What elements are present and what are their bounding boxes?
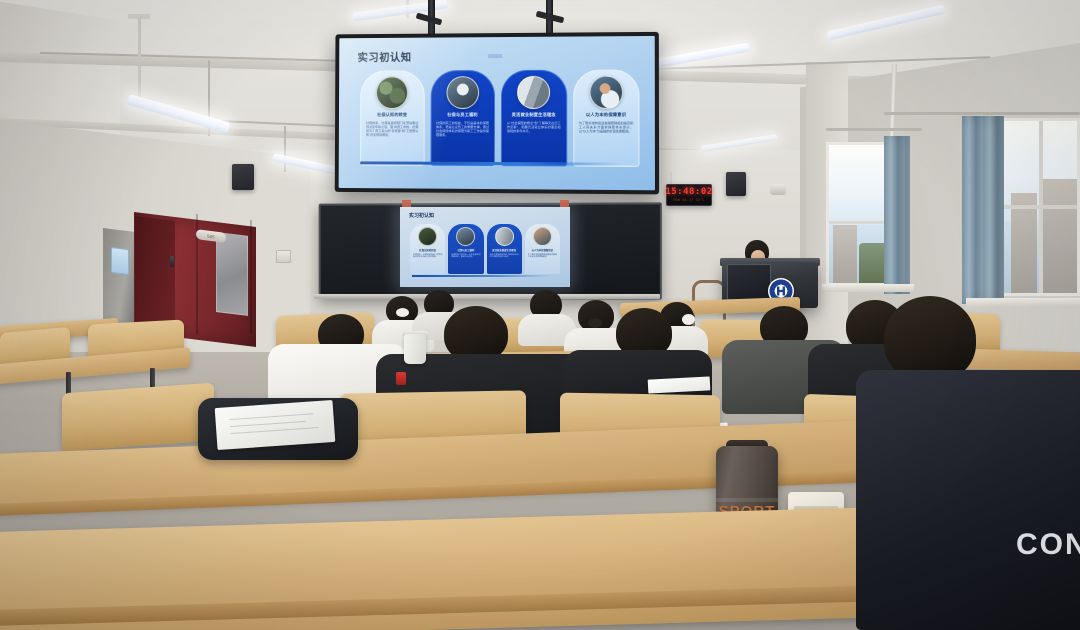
classroom-photo-scene: 实习初认知 社保认知的转变 社保体系、社保是政府部门在劳动者达到法定年龄之后，面… [0,0,1080,630]
door-handle[interactable] [170,256,174,267]
shirt-logo-text: CON [1016,528,1080,562]
curtain-rod-far [884,112,1080,115]
window-middle [826,142,888,286]
slide-card-3: 灵活就业制度生活理念 从"社会保障的概念"到"了解每天在日工作定额"，把握灵活就… [501,70,567,167]
student-back-1-hairtie [396,308,409,317]
slide-card-1-photo [376,76,408,109]
bottle-band [716,498,778,502]
doorway-opening [103,228,137,330]
led-display[interactable]: 实习初认知 社保认知的转变 社保体系、社保是政府部门在劳动者达到法定年龄之后，面… [335,32,659,195]
chalk-tray [314,294,660,299]
projected-card-3-heading: 灵活就业制度生活理念 [492,248,516,252]
projected-card-2-heading: 社保与员工福利 [458,248,475,252]
projected-card-1-body: 社保体系、社保是政府部门在劳动者达到法定年龄之后的保障。 [410,254,445,259]
clock-sublabel: MON 06-17 26°C [673,198,704,202]
projected-card-3-photo [495,227,514,246]
slide-card-1-heading: 社保认知的转变 [377,113,407,118]
projected-card-1-photo [418,227,437,246]
clock-time: 15:48:02 [665,188,712,197]
white-notebook [215,400,336,450]
projected-card-4-body: 为了更好地构建保障措施和提高职工人际关系的保障意识。 [525,254,560,259]
projected-accent-bar [412,275,552,277]
slide-card-1: 社保认知的转变 社保体系、社保是政府部门在劳动者达到法定年龄之后，面 向员工中的… [360,70,424,165]
ceiling-conduit-4 [284,126,286,172]
projected-slide-title: 实习初认知 [409,212,434,219]
projected-slide: 实习初认知 社保认知的转变 社保体系、社保是政府部门在劳动者达到法定年龄之后的保… [400,207,570,287]
notebook-line-2 [230,421,306,427]
projected-card-4-photo [533,227,552,246]
window-sky-mid [829,145,885,225]
window-sill-right [966,298,1080,308]
slide-card-2-heading: 社保与员工福利 [447,113,477,118]
window-mullion-h2 [829,221,885,224]
paper-cup [404,334,426,364]
projected-card-2-body: 社保的职工的权益，不仅是基本的保障体系，更是企业支撑。 [448,254,483,259]
slide-card-4-heading: 以人为本的保障意识 [586,113,626,118]
door-open-leaf[interactable] [135,216,175,327]
slide-card-2-body: 社保的职工的权益，不仅是基本的保障体系，更是企业员工的重要支撑。通过社会保险体系… [431,121,494,138]
light-switch[interactable] [276,250,291,263]
slide-title: 实习初认知 [358,50,412,65]
projected-card-4: 以人为本的保障意识 为了更好地构建保障措施和提高职工人际关系的保障意识。 [525,224,560,274]
notebook-line-3 [230,427,318,434]
projected-card-4-heading: 以人为本的保障意识 [532,248,554,252]
window-building-2 [1043,179,1077,296]
slide-card-2-photo [446,76,479,109]
window-sill-middle [822,284,914,292]
door-window [216,232,248,316]
projected-card-row: 社保认知的转变 社保体系、社保是政府部门在劳动者达到法定年龄之后的保障。 社保与… [410,224,560,274]
led-clock: 15:48:02 MON 06-17 26°C [666,184,712,206]
curtain-right [962,116,1004,304]
projected-card-1-heading: 社保认知的转变 [419,248,436,252]
slide-card-2: 社保与员工福利 社保的职工的权益，不仅是基本的保障体系，更是企业员工的重要支撑。… [430,70,495,166]
projected-card-3: 灵活就业制度生活理念 从社会保障的概念到了解每天在日工作定额的理念与条件。 [487,224,522,274]
slide-card-row: 社保认知的转变 社保体系、社保是政府部门在劳动者达到法定年龄之后，面 向员工中的… [360,69,639,166]
slide-card-3-body: 从"社会保障的概念"到"了解每天在日工作定额"，把握灵活就业体系的理念和保险的条… [502,121,566,134]
wall-notice-placard [111,247,129,275]
projected-card-2-photo [456,227,475,246]
motion-sensor [770,184,786,195]
slide-card-4-photo [589,76,623,109]
slide-card-3-heading: 灵活就业制度生活理念 [512,113,556,118]
slide-card-4: 以人为本的保障意识 为了更好地构建这些保障措施和提高职工人际关系方面的保障体系意… [573,69,640,166]
light-stem-1 [138,18,141,104]
projected-card-1: 社保认知的转变 社保体系、社保是政府部门在劳动者达到法定年龄之后的保障。 [410,224,445,274]
door-panel-seam-2 [250,220,252,334]
slide-card-4-body: 为了更好地构建这些保障措施和提高职工人际关系方面的保障体系意识，以"以人为本"为… [574,121,639,134]
window-mullion-v [1039,121,1043,293]
ceiling-speaker-right [726,172,746,196]
room-number-text: 505 [207,233,215,239]
curtain-rod-mid [826,128,922,131]
slide-watermark [488,54,502,58]
window-building-3 [833,225,857,286]
projected-card-2: 社保与员工福利 社保的职工的权益，不仅是基本的保障体系，更是企业支撑。 [448,224,483,274]
led-display-screen: 实习初认知 社保认知的转变 社保体系、社保是政府部门在劳动者达到法定年龄之后，面… [339,36,655,190]
notebook-line-1 [229,413,313,420]
slide-card-1-body: 社保体系、社保是政府部门在劳动者达到法定年龄之后，面 向员工中的，社保成为了员工… [361,121,423,138]
student-back-4-hairtie [588,318,602,328]
seatback-r2-a [62,383,214,452]
student-foreground-right-torso [856,370,1080,630]
podium-monitor[interactable] [727,264,771,300]
red-item-on-desk [396,372,406,385]
slide-card-3-photo [517,76,550,109]
student-back-5-hairtie [682,314,695,325]
ceiling-speaker-left [232,164,254,190]
window-far-right [1000,118,1080,296]
projected-card-3-body: 从社会保障的概念到了解每天在日工作定额的理念与条件。 [487,254,522,259]
curtain-middle [884,136,910,294]
